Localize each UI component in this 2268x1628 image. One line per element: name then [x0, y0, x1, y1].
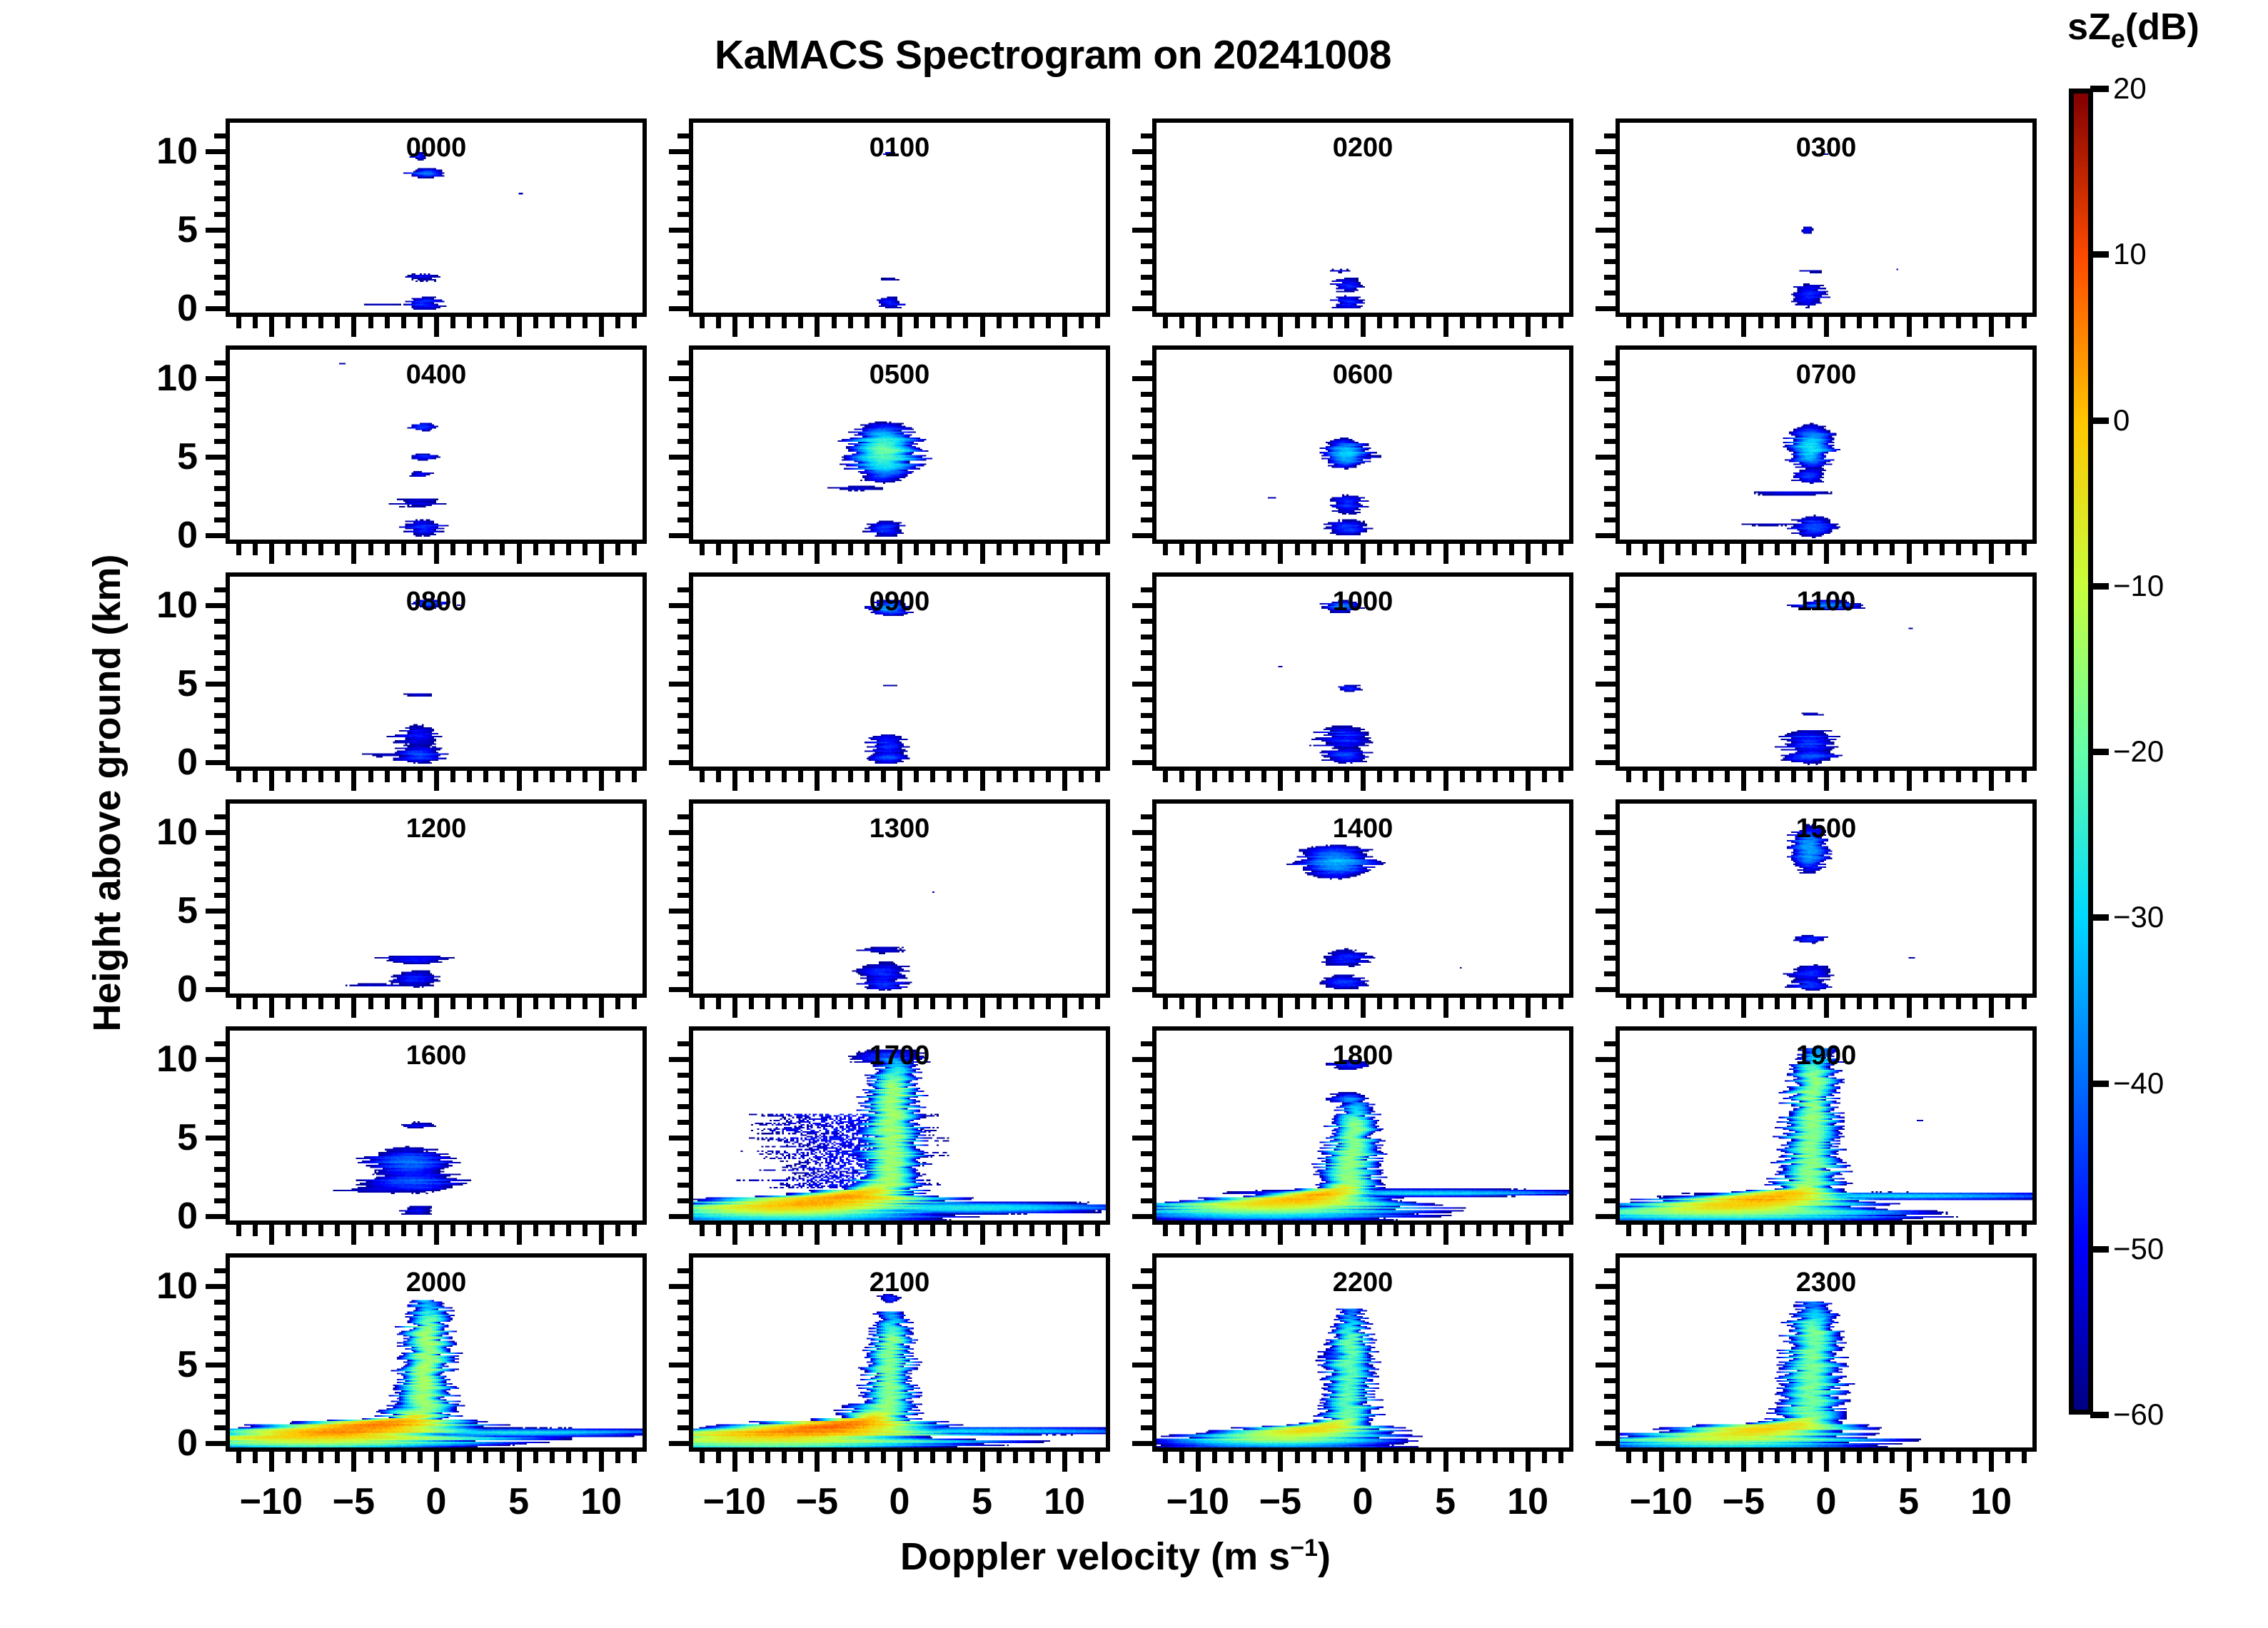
x-minor-tick	[1940, 1225, 1945, 1236]
x-minor-tick	[1295, 317, 1300, 328]
spectrogram-panel[interactable]: 2200	[1152, 1253, 1573, 1452]
y-major-tick	[1596, 376, 1616, 381]
x-minor-tick	[1245, 1225, 1250, 1236]
y-major-tick	[669, 603, 689, 608]
x-major-tick	[980, 998, 985, 1018]
x-minor-tick	[335, 998, 340, 1009]
y-minor-tick	[214, 666, 226, 671]
x-minor-tick	[798, 998, 803, 1009]
y-minor-tick	[1604, 1425, 1616, 1430]
y-minor-tick	[1141, 1041, 1152, 1046]
y-minor-tick	[1604, 666, 1616, 671]
x-minor-tick	[1725, 544, 1730, 555]
y-minor-tick	[1604, 814, 1616, 819]
x-minor-tick	[1840, 1452, 1845, 1463]
x-minor-tick	[1558, 1225, 1563, 1236]
x-major-tick	[1443, 1225, 1448, 1245]
y-major-tick	[206, 1214, 226, 1219]
x-minor-tick	[1476, 544, 1481, 555]
spectrogram-panel[interactable]: 0800	[226, 572, 647, 771]
x-major-tick	[1196, 1225, 1201, 1245]
x-minor-tick	[385, 317, 390, 328]
y-major-tick	[669, 1136, 689, 1141]
x-tick-label: 5	[1898, 1480, 1919, 1523]
y-minor-tick	[1604, 259, 1616, 264]
x-minor-tick	[1179, 544, 1184, 555]
spectrogram-panel[interactable]: 0200	[1152, 118, 1573, 317]
spectrogram-panel[interactable]: 0700	[1616, 345, 2037, 544]
x-minor-tick	[1344, 317, 1349, 328]
spectrogram-image	[1620, 1258, 2032, 1447]
y-minor-tick	[214, 924, 226, 929]
x-minor-tick	[566, 1225, 571, 1236]
x-minor-tick	[1328, 1452, 1333, 1463]
y-minor-tick	[1604, 212, 1616, 217]
x-minor-tick	[1708, 544, 1713, 555]
y-major-tick	[206, 1284, 226, 1289]
x-minor-tick	[1476, 998, 1481, 1009]
x-major-tick	[1907, 771, 1912, 791]
spectrogram-panel[interactable]: 0600	[1152, 345, 1573, 544]
x-major-tick	[1278, 1452, 1283, 1472]
x-minor-tick	[1046, 771, 1051, 782]
y-minor-tick	[214, 517, 226, 522]
x-tick-label: −10	[1166, 1480, 1229, 1523]
x-major-tick	[980, 771, 985, 791]
x-minor-tick	[2005, 1225, 2010, 1236]
x-minor-tick	[1163, 1452, 1168, 1463]
y-minor-tick	[214, 877, 226, 882]
y-minor-tick	[1604, 470, 1616, 475]
y-major-tick	[669, 1362, 689, 1367]
x-minor-tick	[947, 1452, 952, 1463]
x-minor-tick	[1212, 771, 1217, 782]
x-minor-tick	[1890, 998, 1895, 1009]
x-minor-tick	[1046, 998, 1051, 1009]
x-axis-label-exponent: −1	[1290, 1535, 1318, 1562]
y-minor-tick	[1141, 517, 1152, 522]
x-minor-tick	[632, 1225, 637, 1236]
y-minor-tick	[677, 619, 689, 624]
y-major-tick	[1596, 228, 1616, 233]
x-minor-tick	[368, 998, 373, 1009]
y-minor-tick	[677, 486, 689, 491]
x-minor-tick	[1029, 544, 1034, 555]
x-minor-tick	[1643, 771, 1648, 782]
y-minor-tick	[677, 924, 689, 929]
y-minor-tick	[1141, 744, 1152, 749]
y-minor-tick	[1604, 1183, 1616, 1188]
x-minor-tick	[1013, 544, 1018, 555]
x-minor-tick	[318, 1452, 323, 1463]
x-minor-tick	[1328, 1225, 1333, 1236]
x-major-tick	[269, 771, 274, 791]
x-minor-tick	[1956, 771, 1961, 782]
x-minor-tick	[335, 771, 340, 782]
x-minor-tick	[1542, 1452, 1547, 1463]
x-minor-tick	[1179, 998, 1184, 1009]
x-minor-tick	[749, 1225, 754, 1236]
x-minor-tick	[1229, 1225, 1234, 1236]
y-minor-tick	[214, 1041, 226, 1046]
x-major-tick	[351, 1225, 356, 1245]
spectrogram-panel[interactable]: 1000	[1152, 572, 1573, 771]
x-minor-tick	[335, 1225, 340, 1236]
spectrogram-image	[1620, 1031, 2032, 1220]
x-minor-tick	[1890, 1452, 1895, 1463]
x-minor-tick	[483, 317, 488, 328]
x-minor-tick	[335, 1452, 340, 1463]
x-major-tick	[599, 998, 604, 1018]
x-minor-tick	[865, 1452, 870, 1463]
spectrogram-panel[interactable]: 1300	[689, 799, 1110, 998]
x-minor-tick	[1558, 544, 1563, 555]
x-minor-tick	[700, 771, 705, 782]
y-major-tick	[669, 1441, 689, 1446]
x-minor-tick	[1626, 544, 1631, 555]
x-minor-tick	[1261, 1452, 1266, 1463]
y-minor-tick	[677, 243, 689, 248]
y-minor-tick	[1604, 423, 1616, 428]
x-tick-label: 10	[1044, 1480, 1085, 1523]
colorbar-tick	[2090, 1081, 2109, 1087]
x-minor-tick	[798, 1225, 803, 1236]
x-minor-tick	[1344, 771, 1349, 782]
x-minor-tick	[1163, 544, 1168, 555]
spectrogram-panel[interactable]: 0500	[689, 345, 1110, 544]
y-minor-tick	[1604, 587, 1616, 592]
x-minor-tick	[798, 317, 803, 328]
y-minor-tick	[214, 133, 226, 138]
x-minor-tick	[1179, 1452, 1184, 1463]
x-minor-tick	[1393, 1225, 1398, 1236]
x-minor-tick	[550, 317, 555, 328]
y-minor-tick	[1604, 1331, 1616, 1336]
x-major-tick	[1443, 998, 1448, 1018]
y-major-tick	[669, 1284, 689, 1289]
y-minor-tick	[677, 1410, 689, 1415]
y-minor-tick	[1604, 956, 1616, 961]
y-major-tick	[1596, 1284, 1616, 1289]
y-minor-tick	[677, 956, 689, 961]
x-major-tick	[434, 771, 439, 791]
x-minor-tick	[1344, 998, 1349, 1009]
x-major-tick	[1196, 544, 1201, 564]
spectrogram-panel[interactable]: 1800	[1152, 1026, 1573, 1225]
x-major-tick	[1062, 317, 1067, 337]
colorbar-tick	[2090, 418, 2109, 424]
x-minor-tick	[1460, 1452, 1465, 1463]
spectrogram-panel[interactable]: 0300	[1616, 118, 2037, 317]
x-minor-tick	[865, 771, 870, 782]
y-major-tick	[206, 987, 226, 992]
x-minor-tick	[450, 998, 455, 1009]
x-major-tick	[1824, 1225, 1829, 1245]
spectrogram-panel[interactable]: 2100	[689, 1253, 1110, 1452]
y-minor-tick	[677, 1183, 689, 1188]
x-minor-tick	[335, 317, 340, 328]
x-minor-tick	[848, 1225, 853, 1236]
x-minor-tick	[1212, 317, 1217, 328]
x-minor-tick	[1542, 771, 1547, 782]
x-minor-tick	[1857, 998, 1862, 1009]
x-major-tick	[1278, 544, 1283, 564]
y-minor-tick	[214, 259, 226, 264]
spectrogram-panel[interactable]: 1400	[1152, 799, 1573, 998]
x-major-tick	[351, 998, 356, 1018]
x-major-tick	[599, 544, 604, 564]
x-minor-tick	[1775, 317, 1780, 328]
y-minor-tick	[214, 1425, 226, 1430]
y-minor-tick	[1604, 1041, 1616, 1046]
x-minor-tick	[1940, 771, 1945, 782]
x-minor-tick	[1261, 317, 1266, 328]
spectrogram-panel[interactable]: 1700	[689, 1026, 1110, 1225]
x-minor-tick	[716, 317, 721, 328]
x-minor-tick	[632, 998, 637, 1009]
x-minor-tick	[1029, 998, 1034, 1009]
x-minor-tick	[286, 544, 291, 555]
y-minor-tick	[1141, 1410, 1152, 1415]
x-major-tick	[815, 1452, 820, 1472]
spectrogram-panel[interactable]: 2300	[1616, 1253, 2037, 1452]
x-minor-tick	[385, 771, 390, 782]
y-tick-label: 0	[80, 1422, 198, 1465]
x-minor-tick	[1775, 1225, 1780, 1236]
y-minor-tick	[677, 439, 689, 444]
x-minor-tick	[1643, 544, 1648, 555]
spectrogram-panel[interactable]: 0100	[689, 118, 1110, 317]
x-minor-tick	[798, 1452, 803, 1463]
y-minor-tick	[677, 650, 689, 655]
y-minor-tick	[677, 877, 689, 882]
spectrogram-panel[interactable]: 1100	[1616, 572, 2037, 771]
x-minor-tick	[1460, 998, 1465, 1009]
x-minor-tick	[583, 544, 588, 555]
x-minor-tick	[1692, 1452, 1697, 1463]
x-minor-tick	[2005, 317, 2010, 328]
y-minor-tick	[677, 181, 689, 186]
x-major-tick	[1062, 998, 1067, 1018]
x-minor-tick	[1095, 771, 1100, 782]
x-minor-tick	[1046, 544, 1051, 555]
x-major-tick	[1278, 1225, 1283, 1245]
x-major-tick	[1659, 771, 1664, 791]
x-minor-tick	[1261, 771, 1266, 782]
y-minor-tick	[1604, 1300, 1616, 1305]
x-major-tick	[897, 1225, 902, 1245]
colorbar-tick-label: −10	[2113, 569, 2164, 603]
x-minor-tick	[2005, 1452, 2010, 1463]
x-major-tick	[1907, 998, 1912, 1018]
spectrogram-panel[interactable]: 2000	[226, 1253, 647, 1452]
y-major-tick	[1596, 1214, 1616, 1219]
x-major-tick	[1361, 1452, 1366, 1472]
y-minor-tick	[1604, 517, 1616, 522]
y-minor-tick	[1141, 1331, 1152, 1336]
y-minor-tick	[214, 290, 226, 295]
x-minor-tick	[1873, 317, 1878, 328]
y-minor-tick	[1141, 360, 1152, 365]
y-minor-tick	[677, 1315, 689, 1320]
x-minor-tick	[1328, 771, 1333, 782]
x-minor-tick	[1808, 1225, 1813, 1236]
y-minor-tick	[214, 470, 226, 475]
x-minor-tick	[1311, 998, 1316, 1009]
x-minor-tick	[401, 544, 406, 555]
y-minor-tick	[1141, 1104, 1152, 1109]
y-minor-tick	[214, 439, 226, 444]
y-minor-tick	[214, 1347, 226, 1352]
x-minor-tick	[700, 544, 705, 555]
y-minor-tick	[677, 940, 689, 945]
y-minor-tick	[677, 392, 689, 397]
y-major-tick	[669, 228, 689, 233]
y-major-tick	[669, 306, 689, 311]
spectrogram-image	[1620, 350, 2032, 540]
x-minor-tick	[583, 771, 588, 782]
x-minor-tick	[881, 317, 886, 328]
y-minor-tick	[214, 275, 226, 280]
y-minor-tick	[1604, 650, 1616, 655]
x-minor-tick	[832, 1452, 837, 1463]
spectrogram-panel[interactable]: 1500	[1616, 799, 2037, 998]
y-minor-tick	[1141, 1394, 1152, 1399]
y-minor-tick	[677, 1347, 689, 1352]
y-major-tick	[669, 760, 689, 765]
y-minor-tick	[677, 634, 689, 639]
y-major-tick	[1596, 830, 1616, 835]
x-minor-tick	[302, 544, 307, 555]
x-minor-tick	[963, 771, 968, 782]
x-minor-tick	[947, 317, 952, 328]
x-minor-tick	[1079, 317, 1084, 328]
x-minor-tick	[550, 1452, 555, 1463]
x-major-tick	[517, 544, 522, 564]
x-minor-tick	[1295, 544, 1300, 555]
x-minor-tick	[583, 998, 588, 1009]
y-major-tick	[1132, 1136, 1152, 1141]
x-minor-tick	[914, 317, 919, 328]
x-major-tick	[897, 317, 902, 337]
y-minor-tick	[677, 212, 689, 217]
x-minor-tick	[253, 771, 258, 782]
x-minor-tick	[914, 544, 919, 555]
x-major-tick	[1062, 1452, 1067, 1472]
x-minor-tick	[1890, 317, 1895, 328]
x-minor-tick	[1460, 771, 1465, 782]
y-minor-tick	[677, 1300, 689, 1305]
x-minor-tick	[1626, 1225, 1631, 1236]
y-minor-tick	[214, 713, 226, 718]
y-tick-label: 5	[80, 208, 198, 251]
x-minor-tick	[236, 1452, 241, 1463]
x-major-tick	[897, 998, 902, 1018]
x-minor-tick	[418, 1452, 423, 1463]
spectrogram-panel[interactable]: 0000	[226, 118, 647, 317]
colorbar-tick-label: −60	[2113, 1397, 2164, 1432]
y-minor-tick	[1141, 486, 1152, 491]
x-minor-tick	[963, 317, 968, 328]
x-minor-tick	[1626, 998, 1631, 1009]
x-minor-tick	[1013, 771, 1018, 782]
x-minor-tick	[368, 1225, 373, 1236]
y-minor-tick	[1141, 956, 1152, 961]
x-minor-tick	[832, 317, 837, 328]
y-minor-tick	[214, 1300, 226, 1305]
x-minor-tick	[2022, 317, 2027, 328]
y-major-tick	[669, 1057, 689, 1062]
x-minor-tick	[1940, 998, 1945, 1009]
spectrogram-panel[interactable]: 0400	[226, 345, 647, 544]
x-minor-tick	[401, 771, 406, 782]
y-minor-tick	[214, 1167, 226, 1172]
x-tick-label: −5	[796, 1480, 838, 1523]
spectrogram-panel[interactable]: 1600	[226, 1026, 647, 1225]
x-minor-tick	[500, 1225, 505, 1236]
y-minor-tick	[1141, 423, 1152, 428]
y-minor-tick	[677, 1331, 689, 1336]
x-minor-tick	[1179, 1225, 1184, 1236]
colorbar-label-main: sZ	[2067, 6, 2111, 48]
x-minor-tick	[1643, 998, 1648, 1009]
y-minor-tick	[214, 1410, 226, 1415]
y-minor-tick	[1604, 1347, 1616, 1352]
y-minor-tick	[214, 861, 226, 866]
x-minor-tick	[997, 544, 1002, 555]
x-minor-tick	[632, 317, 637, 328]
spectrogram-panel[interactable]: 1200	[226, 799, 647, 998]
y-minor-tick	[1604, 181, 1616, 186]
x-minor-tick	[865, 317, 870, 328]
y-minor-tick	[1604, 940, 1616, 945]
spectrogram-panel[interactable]: 1900	[1616, 1026, 2037, 1225]
x-major-tick	[434, 1225, 439, 1245]
x-major-tick	[1824, 317, 1829, 337]
x-minor-tick	[1493, 317, 1498, 328]
x-minor-tick	[583, 1225, 588, 1236]
x-minor-tick	[716, 544, 721, 555]
colorbar-tick-label: −30	[2113, 900, 2164, 934]
colorbar-tick-label: 20	[2113, 71, 2147, 106]
y-minor-tick	[214, 486, 226, 491]
x-tick-label: −5	[333, 1480, 375, 1523]
x-minor-tick	[253, 1452, 258, 1463]
y-minor-tick	[1604, 1394, 1616, 1399]
x-minor-tick	[253, 317, 258, 328]
y-minor-tick	[1604, 713, 1616, 718]
spectrogram-panel[interactable]: 0900	[689, 572, 1110, 771]
y-minor-tick	[1141, 729, 1152, 734]
x-minor-tick	[566, 998, 571, 1009]
x-major-tick	[732, 544, 737, 564]
x-minor-tick	[533, 544, 538, 555]
x-minor-tick	[1013, 998, 1018, 1009]
x-minor-tick	[865, 544, 870, 555]
x-minor-tick	[2005, 771, 2010, 782]
x-minor-tick	[1029, 771, 1034, 782]
x-major-tick	[517, 771, 522, 791]
x-minor-tick	[1344, 1225, 1349, 1236]
y-minor-tick	[1141, 940, 1152, 945]
colorbar-tick	[2090, 1246, 2109, 1253]
y-major-tick	[1132, 1284, 1152, 1289]
x-minor-tick	[1725, 998, 1730, 1009]
y-major-tick	[1132, 603, 1152, 608]
y-minor-tick	[1141, 877, 1152, 882]
x-minor-tick	[1808, 1452, 1813, 1463]
x-minor-tick	[533, 1225, 538, 1236]
